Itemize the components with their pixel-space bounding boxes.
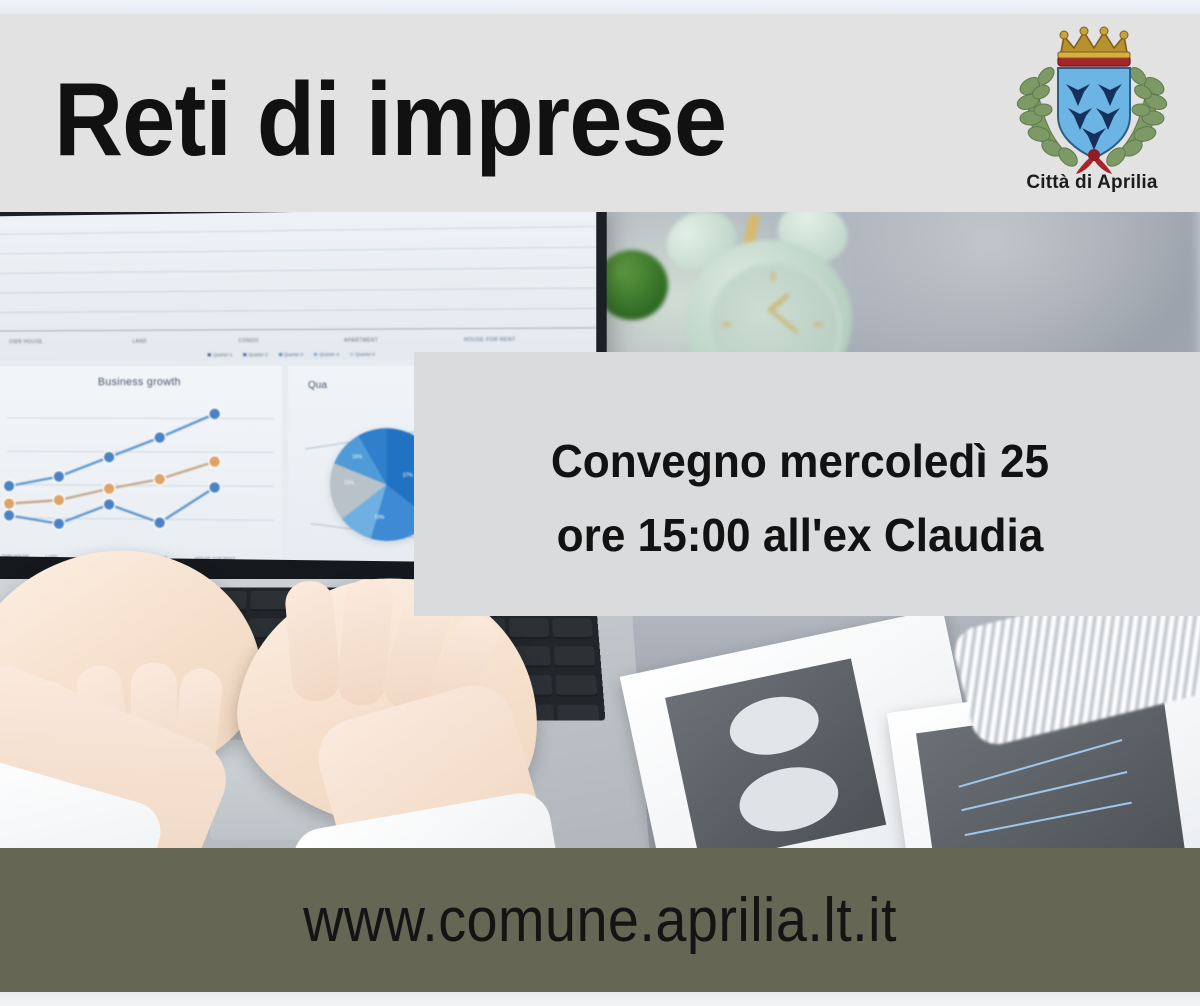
page-title: Reti di imprese <box>54 68 726 172</box>
event-line-2: ore 15:00 all'ex Claudia <box>429 498 1170 572</box>
line-chart-svg <box>0 366 282 564</box>
pie-chart-title: Qua <box>308 380 327 391</box>
clock-tick <box>814 323 823 327</box>
crest-label: Città di Aprilia <box>1008 172 1176 194</box>
bar-chart-panel: OWN HOUSE LAND CONDO APARTMENT HOUSE FOR… <box>0 208 596 361</box>
website-url[interactable]: www.comune.aprilia.lt.it <box>60 848 1140 992</box>
photo-bottom-strip <box>0 992 1200 1006</box>
crown-icon <box>1058 27 1130 66</box>
clock-tick <box>771 272 775 281</box>
footer-band: www.comune.aprilia.lt.it <box>0 848 1200 992</box>
photo-top-strip <box>0 0 1200 14</box>
coat-of-arms-icon <box>1008 24 1176 174</box>
event-line-1: Convegno mercoledì 25 <box>429 424 1170 498</box>
line-chart-panel: Business growth <box>0 366 282 564</box>
poster-canvas: OWN HOUSE LAND CONDO APARTMENT HOUSE FOR… <box>0 0 1200 1006</box>
event-info-box: Convegno mercoledì 25 ore 15:00 all'ex C… <box>414 352 1200 616</box>
clock-tick <box>722 323 731 327</box>
city-crest: Città di Aprilia <box>1008 24 1176 200</box>
bar-chart-bars <box>0 218 596 328</box>
